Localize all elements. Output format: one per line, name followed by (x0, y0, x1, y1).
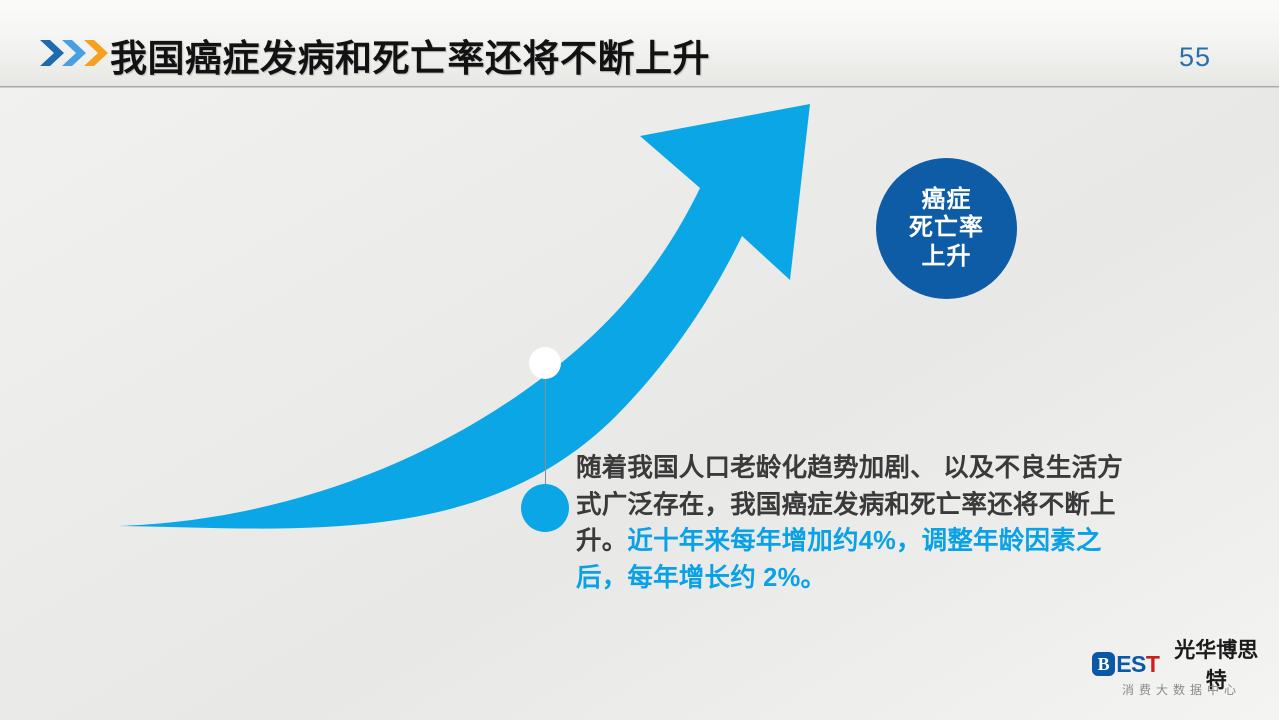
rising-arrow-graphic (0, 88, 1279, 720)
body-highlight-text: 近十年来每年增加约4%，调整年龄因素之后，每年增长约 2%。 (576, 527, 1102, 592)
callout-anchor-dot (521, 484, 569, 532)
body-paragraph: 随着我国人口老龄化趋势加剧、 以及不良生活方式广泛存在，我国癌症发病和死亡率还将… (576, 450, 1138, 597)
badge-line-3: 上升 (922, 243, 972, 271)
header-divider (0, 86, 1279, 88)
chevron-triple-icon (38, 36, 112, 70)
slide-canvas: 我国癌症发病和死亡率还将不断上升 55 癌症 死亡率 上升 随着我国人口老龄化趋… (0, 0, 1279, 720)
logo-wordmark-row: B ES T 光华博思特 (1092, 650, 1267, 678)
logo-text-es: ES (1116, 651, 1146, 678)
badge-line-1: 癌症 (922, 186, 972, 214)
arrow-marker-dot (529, 347, 561, 379)
page-number: 55 (1179, 42, 1211, 73)
brand-logo: B ES T 光华博思特 消费大数据中心 (1092, 650, 1267, 698)
status-badge: 癌症 死亡率 上升 (876, 158, 1017, 299)
badge-line-2: 死亡率 (909, 214, 984, 242)
logo-text-t: T (1146, 651, 1160, 678)
logo-subtitle: 消费大数据中心 (1092, 681, 1267, 698)
page-title: 我国癌症发病和死亡率还将不断上升 (110, 28, 710, 82)
logo-b-mark-icon: B (1092, 652, 1115, 676)
slide-header: 我国癌症发病和死亡率还将不断上升 55 (0, 0, 1279, 88)
